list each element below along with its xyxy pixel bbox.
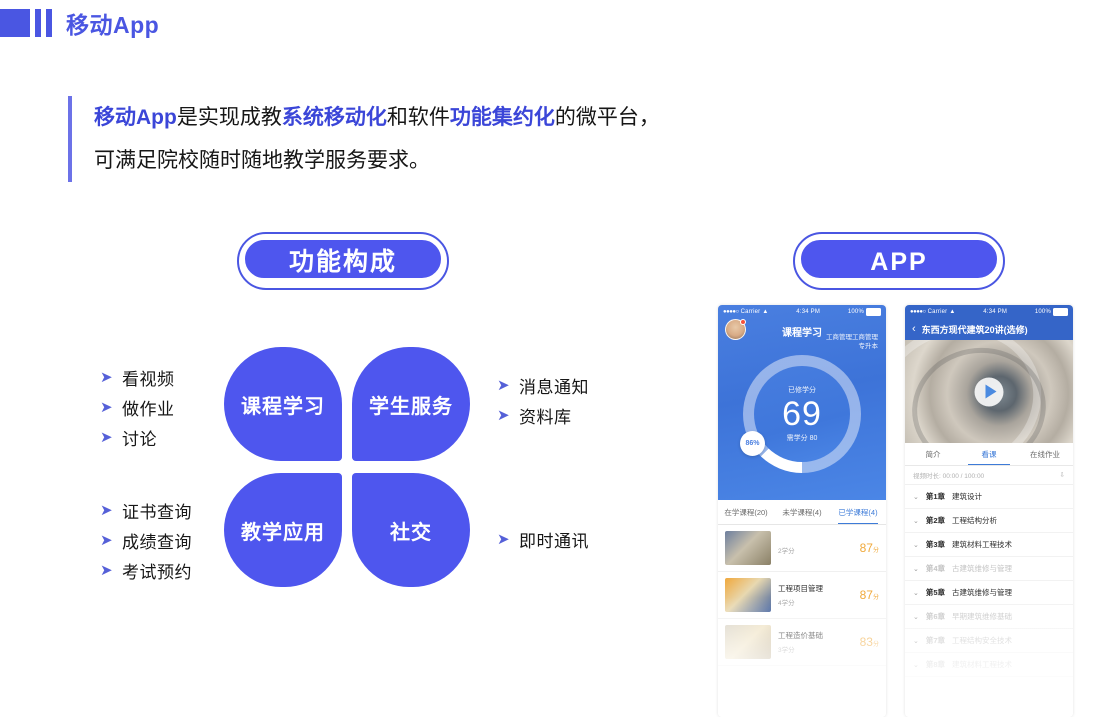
list-item: ➤ 资料库 (497, 400, 589, 430)
chapter-number: 第1章 (926, 491, 945, 502)
chapter-title: 工程结构分析 (952, 515, 997, 526)
header-mark-bar-icon (35, 9, 41, 37)
header-accent-mark (0, 9, 52, 37)
progress-ring-track: 已修学分 69 需学分 80 86% (743, 355, 861, 473)
score-number: 87 (860, 541, 873, 555)
course-info: 工程造价基础 3学分 (778, 630, 853, 654)
bullet-list-course-learning: ➤ 看视频 ➤ 做作业 ➤ 讨论 (100, 362, 175, 452)
petal-student-service[interactable]: 学生服务 (352, 347, 470, 461)
phone2-navbar: ‹ 东西方现代建筑20讲(选修) (905, 318, 1073, 340)
course-thumbnail-image (725, 625, 771, 659)
notification-badge-icon (740, 319, 746, 325)
battery-percent-label: 100% (848, 309, 864, 315)
signal-dots-icon: ●●●●○ (910, 309, 926, 315)
chapter-title: 古建筑维修与管理 (952, 563, 1012, 574)
list-item[interactable]: 工程项目管理 4学分 87分 (718, 572, 886, 619)
header-mark-bar-icon (46, 9, 52, 37)
arrow-bullet-icon: ➤ (497, 408, 519, 423)
chapter-title: 工程结构安全技术 (952, 635, 1012, 646)
petal-label: 教学应用 (241, 516, 325, 545)
phone2-carrier-group: ●●●●○ Carrier ▲ (910, 309, 956, 315)
course-credit: 2学分 (778, 545, 853, 555)
list-item[interactable]: 2学分 87分 (718, 525, 886, 572)
carrier-label: Carrier (928, 309, 948, 315)
list-item: ➤ 考试预约 (100, 555, 192, 585)
chapter-number: 第5章 (926, 587, 945, 598)
course-score: 87分 (860, 541, 879, 555)
phone1-carrier-group: ●●●●○ Carrier ▲ (723, 309, 769, 315)
battery-icon (866, 308, 881, 316)
carrier-label: Carrier (741, 309, 761, 315)
chevron-down-icon: ⌄ (913, 613, 919, 621)
arrow-bullet-icon: ➤ (497, 532, 519, 547)
phone2-status-bar: ●●●●○ Carrier ▲ 4:34 PM 100% (905, 305, 1073, 318)
bullet-label: 资料库 (519, 403, 572, 428)
list-item[interactable]: ⌄ 第4章 古建筑维修与管理 (905, 557, 1073, 581)
pill-function-label: 功能构成 (242, 237, 444, 281)
list-item: ➤ 做作业 (100, 392, 175, 422)
phone-mockup-course-learning: ●●●●○ Carrier ▲ 4:34 PM 100% 课程学习 工商管理工商… (718, 305, 886, 717)
phone1-nav-title: 课程学习 (782, 324, 822, 339)
chapter-number: 第2章 (926, 515, 945, 526)
petal-teaching-application[interactable]: 教学应用 (224, 473, 342, 587)
list-item[interactable]: ⌄ 第2章 工程结构分析 (905, 509, 1073, 533)
intro-text-1: 是实现成教 (177, 106, 282, 129)
chapter-number: 第8章 (926, 659, 945, 670)
list-item[interactable]: ⌄ 第6章 早期建筑维修基础 (905, 605, 1073, 629)
arrow-bullet-icon: ➤ (497, 378, 519, 393)
chapter-title: 建筑材料工程技术 (952, 539, 1012, 550)
bullet-label: 看视频 (122, 365, 175, 390)
chapter-number: 第7章 (926, 635, 945, 646)
credit-label: 已修学分 (788, 385, 816, 395)
chevron-down-icon: ⌄ (913, 493, 919, 501)
bullet-label: 讨论 (122, 425, 157, 450)
signal-dots-icon: ●●●●○ (723, 309, 739, 315)
phone2-status-wrap: ●●●●○ Carrier ▲ 4:34 PM 100% (905, 305, 1073, 318)
chevron-down-icon: ⌄ (913, 661, 919, 669)
list-item[interactable]: ⌄ 第8章 建筑材料工程技术 (905, 653, 1073, 677)
major-line-2: 专升本 (826, 342, 878, 351)
bullet-label: 证书查询 (122, 498, 192, 523)
pill-app[interactable]: APP (793, 232, 1005, 290)
petal-course-learning[interactable]: 课程学习 (224, 347, 342, 461)
arrow-bullet-icon: ➤ (100, 533, 122, 548)
avatar[interactable] (725, 319, 746, 340)
petal-label: 社交 (390, 516, 432, 545)
score-unit: 分 (873, 548, 879, 554)
list-item: ➤ 看视频 (100, 362, 175, 392)
bullet-list-social: ➤ 即时通讯 (497, 524, 589, 554)
chevron-down-icon: ⌄ (913, 541, 919, 549)
major-line-1: 工商管理工商管理 (826, 333, 878, 342)
course-info: 工程项目管理 4学分 (778, 583, 853, 607)
chevron-down-icon: ⌄ (913, 589, 919, 597)
header-mark-block-icon (0, 9, 30, 37)
progress-percent-badge: 86% (740, 431, 765, 456)
phone2-battery-group: 100% (1035, 308, 1068, 316)
bullet-label: 做作业 (122, 395, 175, 420)
chapter-title: 古建筑维修与管理 (952, 587, 1012, 598)
intro-line-1: 移动App是实现成教系统移动化和软件功能集约化的微平台， (94, 96, 894, 139)
intro-text-3: 的微平台， (555, 106, 660, 129)
bullet-label: 消息通知 (519, 373, 589, 398)
credit-progress-ring: 已修学分 69 需学分 80 86% (743, 355, 861, 473)
chapter-number: 第4章 (926, 563, 945, 574)
list-item: ➤ 成绩查询 (100, 525, 192, 555)
slide-header: 移动App (0, 6, 159, 40)
score-number: 87 (860, 588, 873, 602)
chapter-title: 早期建筑维修基础 (952, 611, 1012, 622)
course-info: 2学分 (778, 542, 853, 555)
course-name: 工程项目管理 (778, 583, 853, 594)
petal-label: 学生服务 (369, 390, 453, 419)
tab-online-homework[interactable]: 在线作业 (1017, 443, 1073, 465)
play-icon[interactable] (975, 377, 1004, 406)
course-credit: 4学分 (778, 597, 853, 607)
bullet-label: 即时通讯 (519, 527, 589, 552)
pill-app-label: APP (798, 237, 1000, 281)
bullet-label: 成绩查询 (122, 528, 192, 553)
battery-icon (1053, 308, 1068, 316)
arrow-bullet-icon: ➤ (100, 563, 122, 578)
chevron-down-icon: ⌄ (913, 637, 919, 645)
pill-function-composition[interactable]: 功能构成 (237, 232, 449, 290)
phone1-course-tabs: 在学课程(20) 未学课程(4) 已学课程(4) (718, 500, 886, 525)
tab-enrolled-courses[interactable]: 在学课程(20) (718, 500, 774, 524)
back-arrow-icon[interactable]: ‹ (912, 324, 916, 335)
phone2-detail-tabs: 简介 看课 在线作业 (905, 443, 1073, 466)
phone-mockup-course-detail: ●●●●○ Carrier ▲ 4:34 PM 100% ‹ 东西方现代建筑20… (905, 305, 1073, 717)
credit-value: 69 (782, 395, 822, 433)
petal-social[interactable]: 社交 (352, 473, 470, 587)
arrow-bullet-icon: ➤ (100, 503, 122, 518)
phone1-battery-group: 100% (848, 308, 881, 316)
tab-unstudied-courses[interactable]: 未学课程(4) (774, 500, 830, 524)
intro-text-2: 和软件 (387, 106, 450, 129)
intro-emphasis-system: 系统移动化 (282, 106, 387, 129)
status-time: 4:34 PM (956, 309, 1035, 315)
tab-intro[interactable]: 简介 (905, 443, 961, 465)
chapter-title: 建筑设计 (952, 491, 982, 502)
battery-percent-label: 100% (1035, 309, 1051, 315)
phone1-major-info: 工商管理工商管理 专升本 (826, 333, 878, 351)
course-credit: 3学分 (778, 644, 853, 654)
bullet-list-teaching-application: ➤ 证书查询 ➤ 成绩查询 ➤ 考试预约 (100, 495, 192, 585)
course-score: 87分 (860, 588, 879, 602)
page-title: 移动App (66, 6, 159, 40)
arrow-bullet-icon: ➤ (100, 400, 122, 415)
video-player[interactable] (905, 340, 1073, 443)
list-item[interactable]: ⌄ 第7章 工程结构安全技术 (905, 629, 1073, 653)
arrow-bullet-icon: ➤ (100, 370, 122, 385)
chapter-number: 第6章 (926, 611, 945, 622)
course-score: 83分 (860, 635, 879, 649)
list-item: ➤ 消息通知 (497, 370, 589, 400)
course-name: 工程造价基础 (778, 630, 853, 641)
list-item[interactable]: ⌄ 第3章 建筑材料工程技术 (905, 533, 1073, 557)
video-duration-label: 视频时长: 00:00 / 100:00 (913, 470, 984, 480)
phone1-status-bar: ●●●●○ Carrier ▲ 4:34 PM 100% (718, 305, 886, 318)
video-duration-row: 视频时长: 00:00 / 100:00 ⇩ (905, 466, 1073, 485)
intro-emphasis-function: 功能集约化 (450, 106, 555, 129)
score-unit: 分 (873, 595, 879, 601)
arrow-bullet-icon: ➤ (100, 430, 122, 445)
phone2-nav-title: 东西方现代建筑20讲(选修) (922, 323, 1028, 336)
credit-total: 需学分 80 (787, 433, 818, 443)
tab-completed-courses[interactable]: 已学课程(4) (830, 500, 886, 524)
chapter-number: 第3章 (926, 539, 945, 550)
chevron-down-icon: ⌄ (913, 565, 919, 573)
course-thumbnail-image (725, 578, 771, 612)
chevron-down-icon: ⌄ (913, 517, 919, 525)
phone1-hero: ●●●●○ Carrier ▲ 4:34 PM 100% 课程学习 工商管理工商… (718, 305, 886, 500)
course-thumbnail-image (725, 531, 771, 565)
list-item[interactable]: ⌄ 第1章 建筑设计 (905, 485, 1073, 509)
app-screenshots: ●●●●○ Carrier ▲ 4:34 PM 100% 课程学习 工商管理工商… (716, 305, 1076, 717)
play-triangle (985, 385, 996, 399)
list-item[interactable]: ⌄ 第5章 古建筑维修与管理 (905, 581, 1073, 605)
score-number: 83 (860, 635, 873, 649)
chapter-title: 建筑材料工程技术 (952, 659, 1012, 670)
list-item[interactable]: 工程造价基础 3学分 83分 (718, 619, 886, 666)
petal-label: 课程学习 (241, 390, 325, 419)
intro-paragraph: 移动App是实现成教系统移动化和软件功能集约化的微平台， 可满足院校随时随地教学… (68, 96, 894, 182)
score-unit: 分 (873, 642, 879, 648)
function-petal-diagram: 课程学习 学生服务 教学应用 社交 (224, 347, 470, 587)
progress-ring-center: 已修学分 69 需学分 80 (754, 366, 850, 462)
status-time: 4:34 PM (769, 309, 848, 315)
list-item: ➤ 证书查询 (100, 495, 192, 525)
intro-emphasis-app: 移动App (94, 106, 177, 129)
download-icon[interactable]: ⇩ (1060, 471, 1065, 479)
list-item: ➤ 讨论 (100, 422, 175, 452)
list-item: ➤ 即时通讯 (497, 524, 589, 554)
bullet-list-student-service: ➤ 消息通知 ➤ 资料库 (497, 370, 589, 430)
tab-watch-course[interactable]: 看课 (961, 443, 1017, 465)
intro-line-2: 可满足院校随时随地教学服务要求。 (94, 139, 894, 182)
bullet-label: 考试预约 (122, 558, 192, 583)
